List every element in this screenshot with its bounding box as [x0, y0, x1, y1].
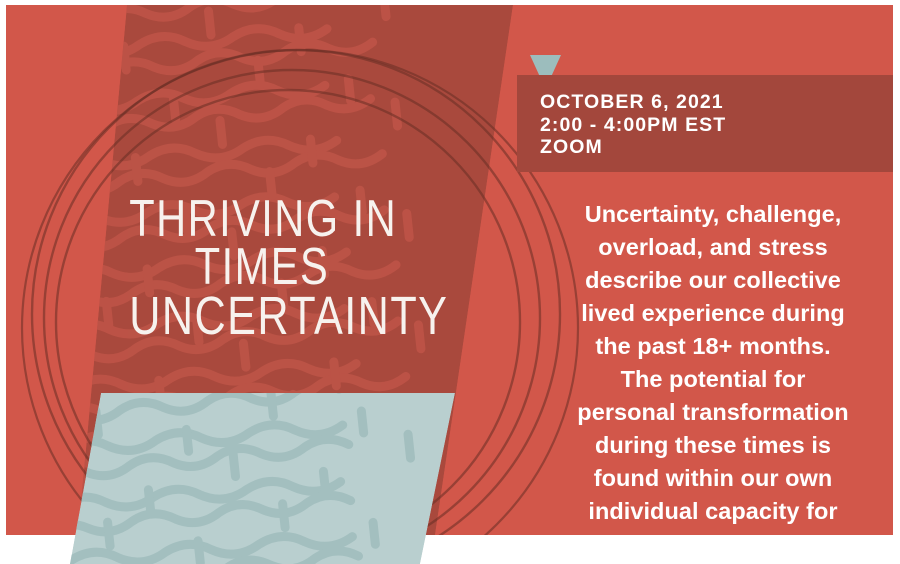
- body-line: describe our collective: [533, 264, 893, 297]
- body-line: lived experience during: [533, 297, 893, 330]
- body-line: resilience.: [533, 528, 893, 561]
- body-line: overload, and stress: [533, 231, 893, 264]
- title-line-1: THRIVING IN: [129, 196, 395, 244]
- body-line: The potential for: [533, 363, 893, 396]
- page-title: THRIVING IN TIMES UNCERTAINTY: [129, 196, 395, 341]
- poster-canvas: OCTOBER 6, 2021 2:00 - 4:00PM EST ZOOM T…: [0, 0, 900, 564]
- body-paragraph: Uncertainty, challenge, overload, and st…: [533, 198, 893, 561]
- body-line: individual capacity for: [533, 495, 893, 528]
- title-line-2: TIMES: [129, 244, 395, 292]
- event-time: 2:00 - 4:00PM EST: [540, 114, 726, 137]
- event-info-text: OCTOBER 6, 2021 2:00 - 4:00PM EST ZOOM: [540, 91, 726, 159]
- body-line: during these times is: [533, 429, 893, 462]
- body-line: the past 18+ months.: [533, 330, 893, 363]
- body-line: found within our own: [533, 462, 893, 495]
- body-line: Uncertainty, challenge,: [533, 198, 893, 231]
- event-date: OCTOBER 6, 2021: [540, 91, 726, 114]
- title-line-3: UNCERTAINTY: [129, 292, 395, 342]
- event-platform: ZOOM: [540, 136, 726, 159]
- body-line: personal transformation: [533, 396, 893, 429]
